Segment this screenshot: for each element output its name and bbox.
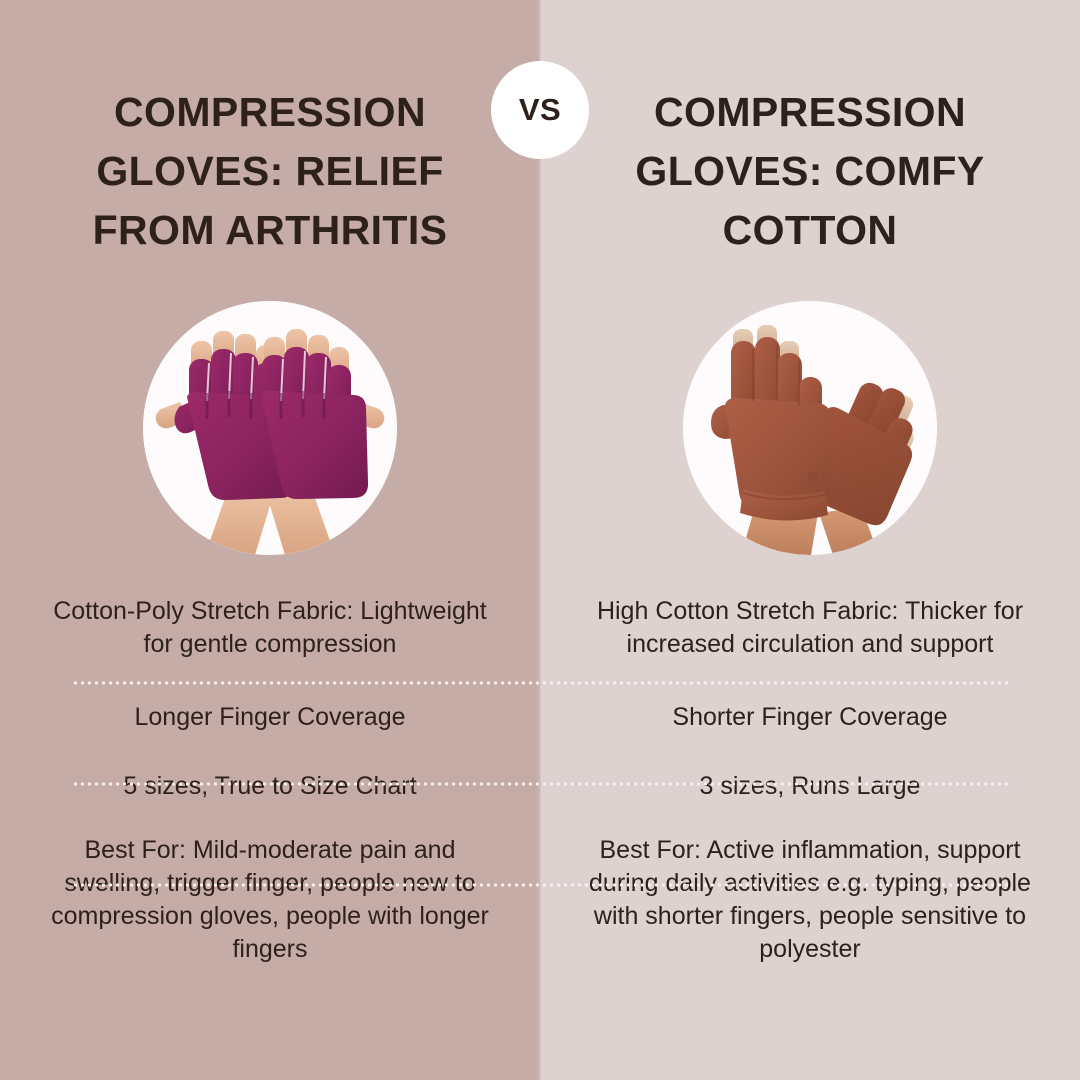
right-feature-coverage: Shorter Finger Coverage [556,701,1064,734]
left-feature-fabric: Cotton-Poly Stretch Fabric: Lightweight … [16,595,524,661]
right-feature-list: High Cotton Stretch Fabric: Thicker for … [540,555,1080,966]
columns-container: COMPRESSION GLOVES: RELIEF FROM ARTHRITI… [0,0,1080,1080]
left-column-title: COMPRESSION GLOVES: RELIEF FROM ARTHRITI… [0,83,540,260]
brown-gloves-illustration [683,301,937,555]
row-divider-2 [72,782,1008,786]
row-divider-3 [72,883,1008,887]
left-feature-best-for: Best For: Mild-moderate pain and swellin… [16,834,524,966]
right-feature-sizing: 3 sizes, Runs Large [556,770,1064,803]
vs-badge: VS [491,61,589,159]
left-product-image [143,301,397,555]
purple-gloves-illustration [143,301,397,555]
right-feature-fabric: High Cotton Stretch Fabric: Thicker for … [556,595,1064,661]
right-product-image [683,301,937,555]
comparison-infographic: COMPRESSION GLOVES: RELIEF FROM ARTHRITI… [0,0,1080,1080]
left-column: COMPRESSION GLOVES: RELIEF FROM ARTHRITI… [0,0,540,1080]
left-feature-sizing: 5 sizes, True to Size Chart [16,770,524,803]
row-divider-1 [72,681,1008,685]
left-feature-list: Cotton-Poly Stretch Fabric: Lightweight … [0,555,540,966]
vs-badge-label: VS [519,92,561,128]
right-column: COMPRESSION GLOVES: COMFY COTTON [540,0,1080,1080]
right-feature-best-for: Best For: Active inflammation, support d… [556,834,1064,966]
left-feature-coverage: Longer Finger Coverage [16,701,524,734]
right-column-title: COMPRESSION GLOVES: COMFY COTTON [540,83,1080,260]
